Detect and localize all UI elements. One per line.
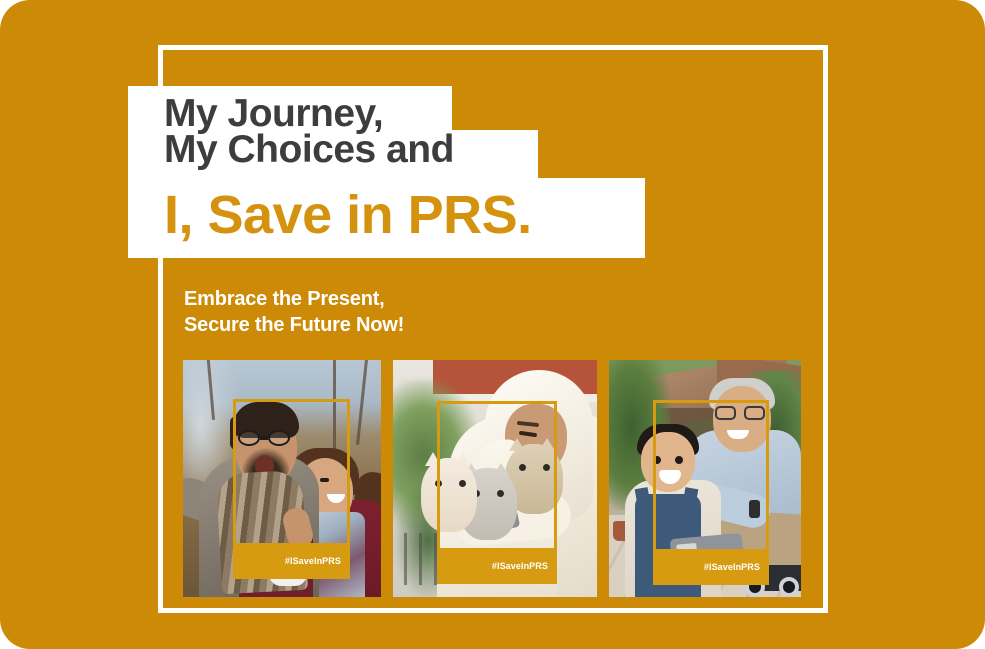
prs-campaign-banner: My Journey, My Choices and I, Save in PR… xyxy=(0,0,985,649)
photo-card-couple-autumn[interactable]: #ISaveInPRS xyxy=(183,360,381,597)
hashtag-label: #ISaveInPRS xyxy=(285,556,341,566)
headline-line-1: My Journey, xyxy=(128,86,452,130)
hashtag-label: #ISaveInPRS xyxy=(704,562,760,572)
headline-block: My Journey, My Choices and I, Save in PR… xyxy=(128,86,688,258)
headline-line-2: My Choices and xyxy=(128,130,538,178)
photo-overlay-frame: #ISaveInPRS xyxy=(653,400,769,552)
photo-card-woman-cats[interactable]: #ISaveInPRS xyxy=(393,360,597,597)
subtitle-line-2: Secure the Future Now! xyxy=(184,312,404,338)
subtitle-block: Embrace the Present, Secure the Future N… xyxy=(184,286,404,338)
hashtag-bar: #ISaveInPRS xyxy=(437,548,557,584)
photo-overlay-frame: #ISaveInPRS xyxy=(437,401,557,551)
photo-strip: #ISaveInPRS xyxy=(183,360,801,597)
subtitle-line-1: Embrace the Present, xyxy=(184,286,404,312)
hashtag-label: #ISaveInPRS xyxy=(492,561,548,571)
hashtag-bar: #ISaveInPRS xyxy=(653,549,769,585)
headline-line-3: I, Save in PRS. xyxy=(128,178,645,258)
hashtag-bar: #ISaveInPRS xyxy=(233,543,350,579)
photo-overlay-frame: #ISaveInPRS xyxy=(233,399,350,546)
photo-card-grandfather-boy[interactable]: #ISaveInPRS xyxy=(609,360,801,597)
